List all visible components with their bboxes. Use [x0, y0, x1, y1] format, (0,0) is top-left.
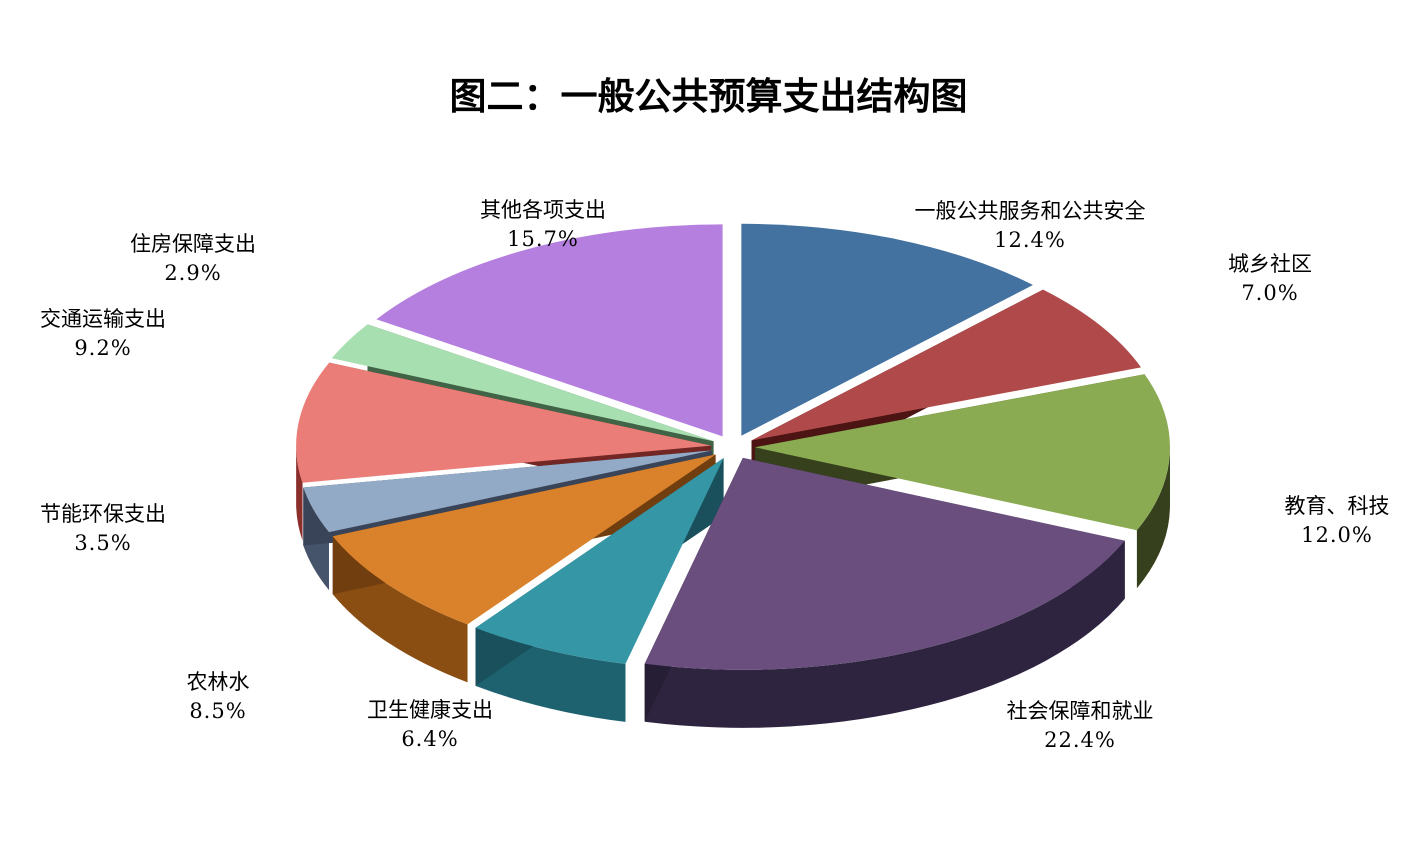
slice-label-agriculture-forestry-water: 农林水 8.5%	[133, 668, 303, 726]
slice-label-name: 卫生健康支出	[300, 696, 560, 725]
slice-label-value: 7.0%	[1160, 279, 1380, 308]
slice-label-name: 一般公共服务和公共安全	[860, 197, 1200, 226]
pie-chart-figure: 图二：一般公共预算支出结构图 一般公共服务和公共安全 12.4% 城乡社区 7.…	[0, 0, 1417, 854]
slice-label-other-expenditures: 其他各项支出 15.7%	[448, 196, 638, 254]
slice-label-value: 9.2%	[8, 334, 198, 363]
slice-label-health: 卫生健康支出 6.4%	[300, 696, 560, 754]
slice-label-value: 8.5%	[133, 697, 303, 726]
slice-label-name: 农林水	[133, 668, 303, 697]
slice-label-urban-rural-community: 城乡社区 7.0%	[1160, 250, 1380, 308]
slice-label-name: 节能环保支出	[8, 500, 198, 529]
slice-label-housing-security: 住房保障支出 2.9%	[98, 230, 288, 288]
slice-label-name: 社会保障和就业	[930, 697, 1230, 726]
slice-label-value: 12.4%	[860, 226, 1200, 255]
slice-label-value: 22.4%	[930, 726, 1230, 755]
slice-label-energy-environment: 节能环保支出 3.5%	[8, 500, 198, 558]
slice-label-name: 城乡社区	[1160, 250, 1380, 279]
slice-label-social-security-employment: 社会保障和就业 22.4%	[930, 697, 1230, 755]
slice-label-general-public-service: 一般公共服务和公共安全 12.4%	[860, 197, 1200, 255]
slice-label-name: 住房保障支出	[98, 230, 288, 259]
slice-label-value: 3.5%	[8, 529, 198, 558]
slice-label-value: 15.7%	[448, 225, 638, 254]
slice-label-education-technology: 教育、科技 12.0%	[1237, 492, 1417, 550]
slice-label-value: 2.9%	[98, 259, 288, 288]
slice-label-value: 6.4%	[300, 725, 560, 754]
slice-label-value: 12.0%	[1237, 521, 1417, 550]
slice-label-name: 教育、科技	[1237, 492, 1417, 521]
slice-label-transportation: 交通运输支出 9.2%	[8, 305, 198, 363]
slice-label-name: 交通运输支出	[8, 305, 198, 334]
slice-label-name: 其他各项支出	[448, 196, 638, 225]
